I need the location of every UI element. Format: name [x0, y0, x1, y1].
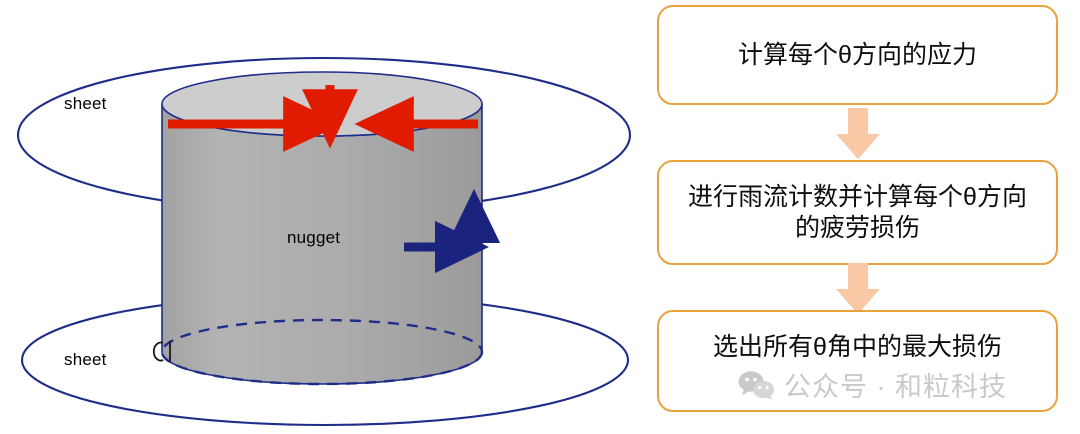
screenshot-root: sheet sheet nugget 计算每个θ方向的应力 进行雨流计数并计算每… [0, 0, 1080, 434]
flow-step-label: 进行雨流计数并计算每个θ方向 的疲劳损伤 [674, 182, 1041, 243]
flow-connector-arrow-1 [835, 108, 881, 160]
watermark: 公众号 · 和粒科技 [737, 365, 1007, 404]
wechat-icon [737, 370, 775, 400]
sheet-label-bottom: sheet [64, 350, 107, 370]
flow-step-label: 选出所有θ角中的最大损伤 [699, 332, 1016, 363]
watermark-text: 公众号 · 和粒科技 [784, 365, 1007, 404]
flow-connector-arrow-2 [835, 263, 881, 315]
sheet-label-top: sheet [64, 94, 107, 114]
flowchart-panel: 计算每个θ方向的应力 进行雨流计数并计算每个θ方向 的疲劳损伤 选出所有θ角中的… [640, 0, 1080, 434]
nugget-label: nugget [287, 228, 340, 248]
nugget-sheet-diagram: sheet sheet nugget [0, 0, 640, 434]
flow-step-compute-stress[interactable]: 计算每个θ方向的应力 [657, 5, 1058, 105]
flow-step-label: 计算每个θ方向的应力 [724, 40, 991, 71]
flow-step-rainflow-damage[interactable]: 进行雨流计数并计算每个θ方向 的疲劳损伤 [657, 160, 1058, 265]
